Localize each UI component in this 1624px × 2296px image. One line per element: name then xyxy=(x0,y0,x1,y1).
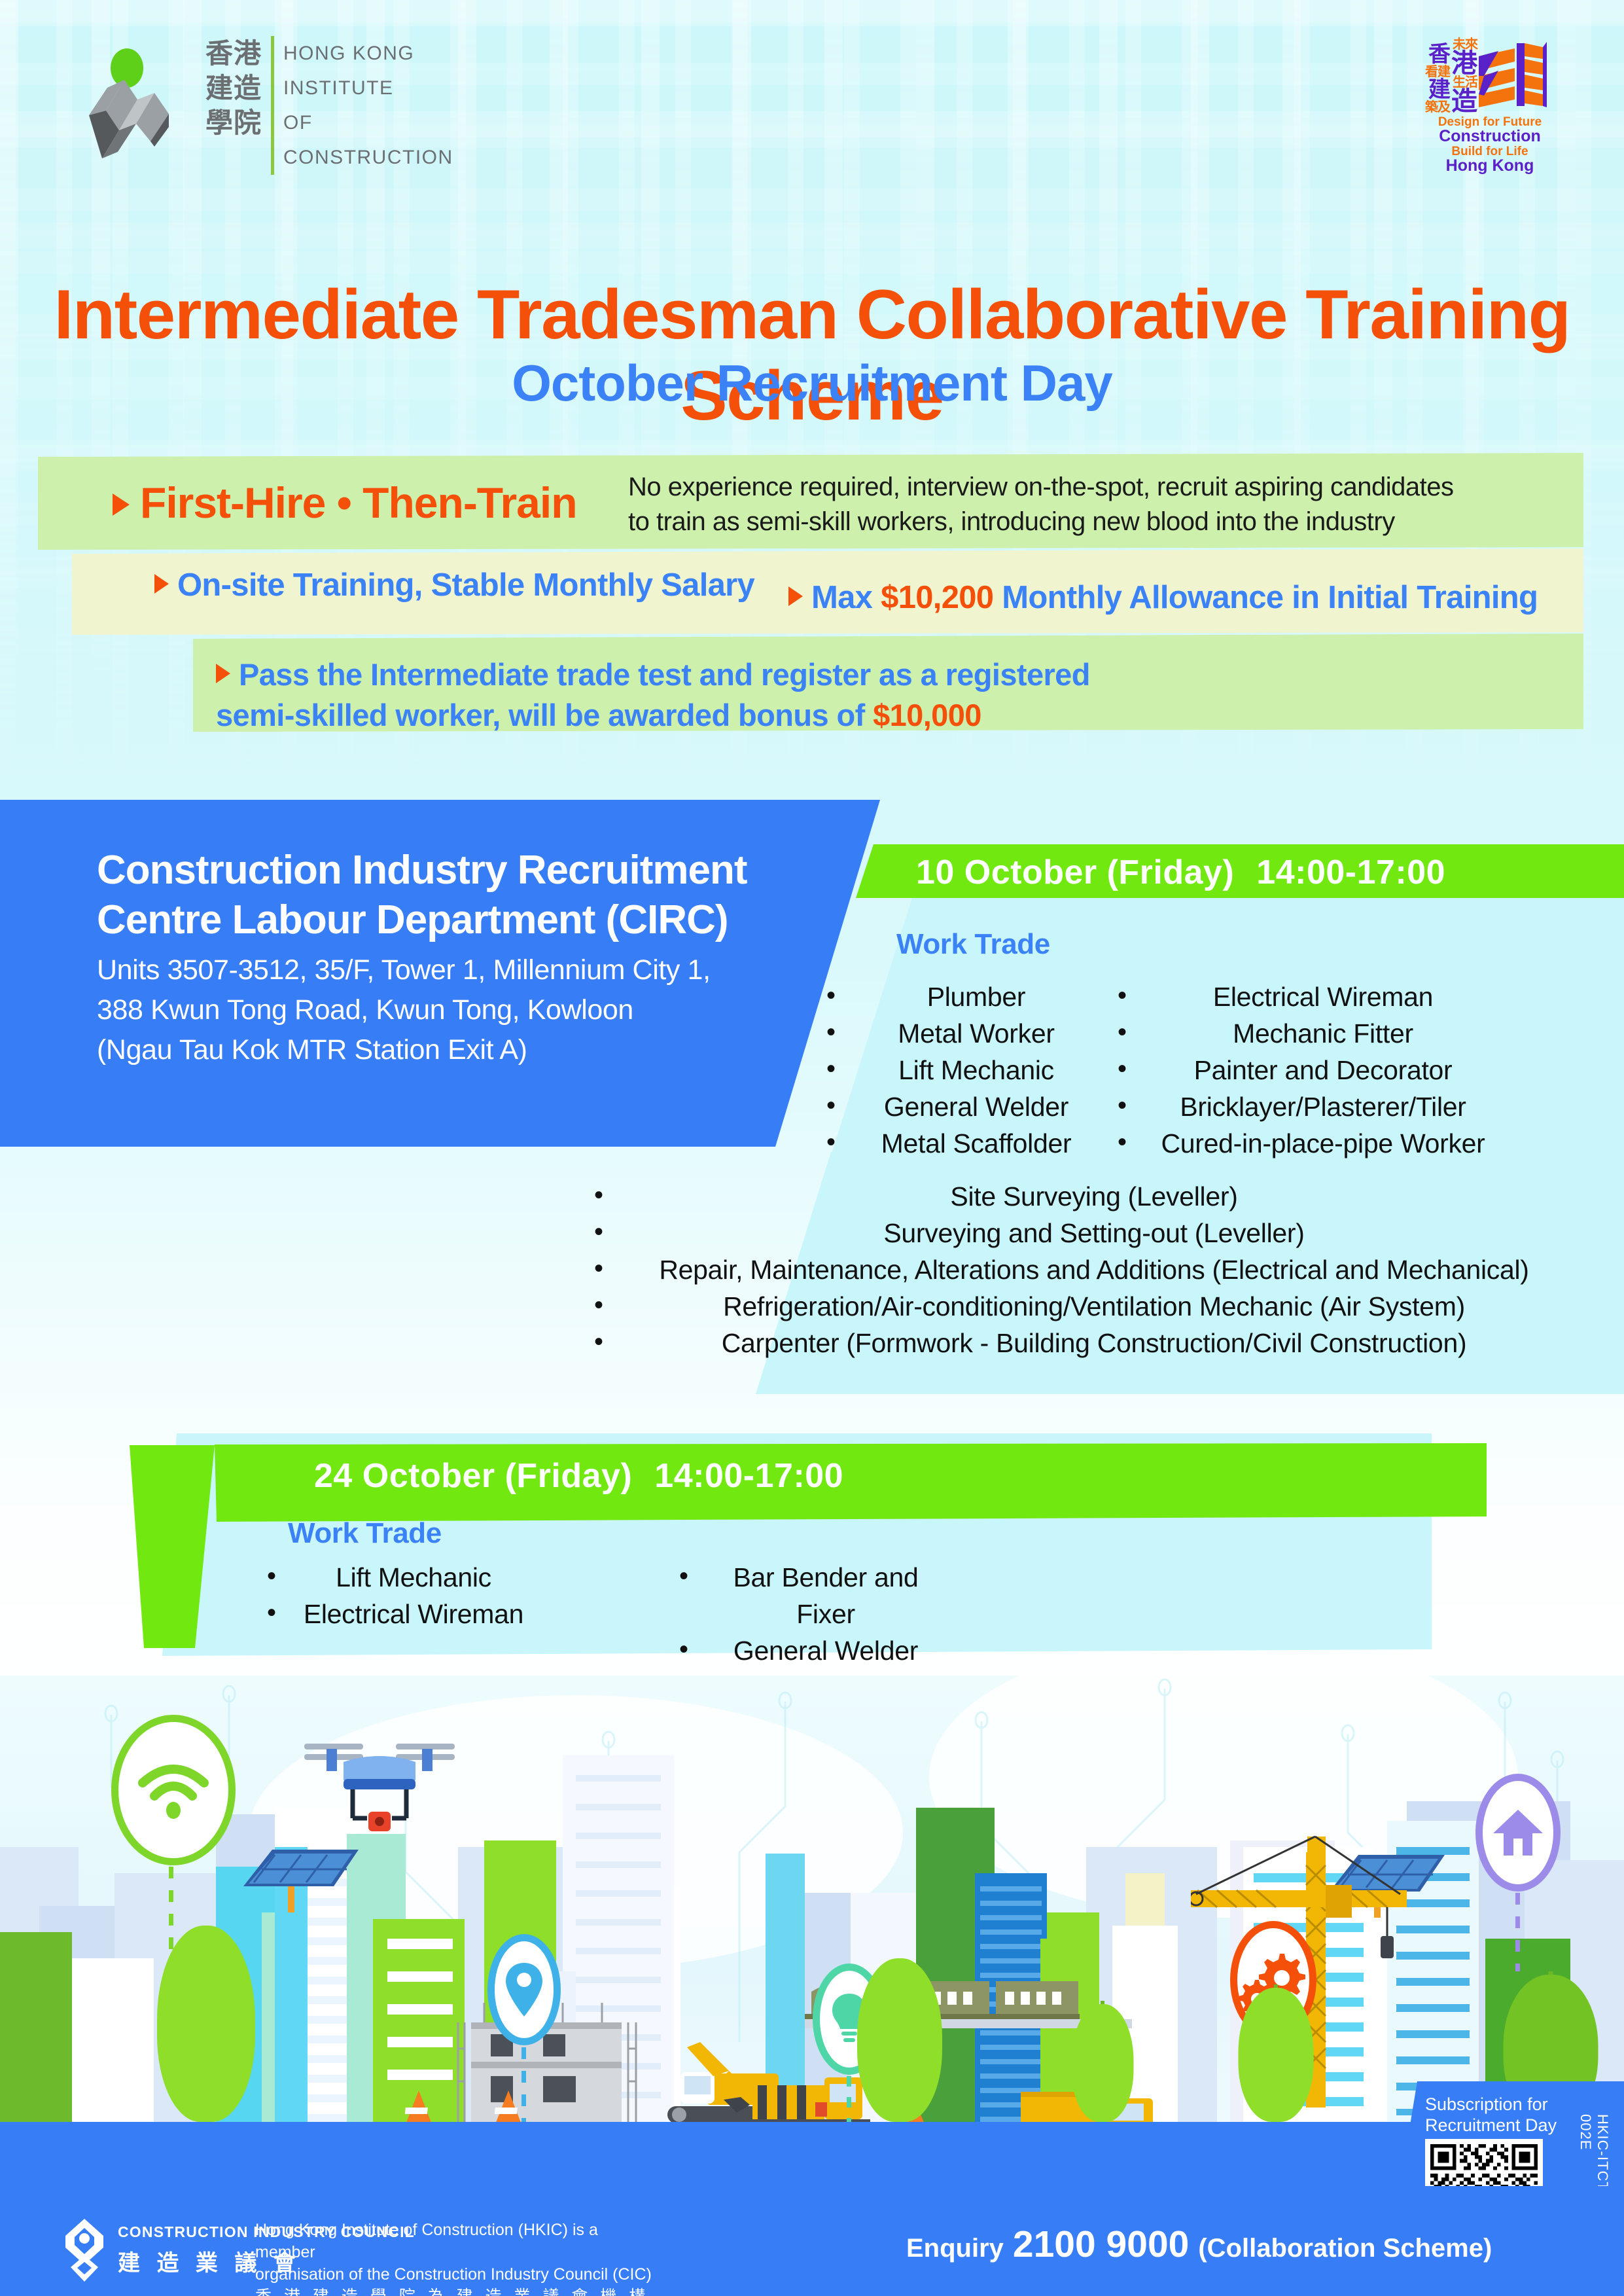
bonus-line-2-prefix: semi-skilled worker, will be awarded bon… xyxy=(216,698,873,732)
hkic-divider xyxy=(271,36,274,175)
list-item: Lift Mechanic xyxy=(821,1052,1103,1088)
list-item: General Welder xyxy=(821,1088,1103,1125)
list-item: Metal Scaffolder xyxy=(821,1125,1103,1162)
list-item: Electrical Wireman xyxy=(262,1596,537,1632)
home-badge xyxy=(1475,1774,1561,1892)
member-note-line-3: 香 港 建 造 學 院 為 建 造 業 議 會 機 構 成 員 xyxy=(255,2286,661,2296)
list-item: Electrical Wireman xyxy=(1112,978,1505,1015)
venue-name-line-2: Centre Labour Department (CIRC) xyxy=(97,895,803,945)
allowance-prefix: Max xyxy=(811,580,881,615)
enquiry-number[interactable]: 2100 9000 xyxy=(1013,2223,1189,2265)
tree xyxy=(150,1906,262,2122)
hkic-cn-line-2: 建造 xyxy=(205,71,262,105)
dff-cn-1: 香 xyxy=(1425,43,1450,65)
member-note-line-2: organisation of the Construction Industr… xyxy=(255,2263,661,2286)
building xyxy=(0,1932,72,2122)
dff-line-4: Hong Kong xyxy=(1408,158,1572,175)
location-badge xyxy=(487,1934,561,2045)
hkic-logo-text: 香港 建造 學院 HONG KONG INSTITUTE OF CONSTRUC… xyxy=(205,36,453,175)
design-for-future-logo: 香 看建 建 築及 未來 港 生活 造 xyxy=(1408,38,1572,175)
list-item: Bar Bender and Fixer xyxy=(674,1559,949,1632)
subscription-title: Subscription for Recruitment Day xyxy=(1425,2094,1576,2136)
dff-cn-mid: 看建 xyxy=(1425,65,1450,79)
drone-icon xyxy=(298,1734,468,1865)
list-item: Painter and Decorator xyxy=(1112,1052,1505,1088)
session-1-trades-full: Site Surveying (Leveller) Surveying and … xyxy=(589,1178,1570,1361)
arrow-right-icon xyxy=(788,586,803,606)
list-item: Metal Worker xyxy=(821,1015,1103,1052)
session-2-date-label: 24 October (Friday)14:00-17:00 xyxy=(314,1456,843,1496)
building xyxy=(62,1958,154,2122)
allowance-item: Max $10,200 Monthly Allowance in Initial… xyxy=(788,579,1538,616)
bonus-item: Pass the Intermediate trade test and reg… xyxy=(216,655,1328,736)
arrow-right-icon xyxy=(113,493,130,516)
bonus-line-1: Pass the Intermediate trade test and reg… xyxy=(239,657,1090,692)
list-item: Bricklayer/Plasterer/Tiler xyxy=(1112,1088,1505,1125)
hkic-english-name: HONG KONG INSTITUTE OF CONSTRUCTION xyxy=(283,36,453,175)
session-1-date-text: 10 October (Friday) xyxy=(916,853,1234,891)
hkic-logo: 香港 建造 學院 HONG KONG INSTITUTE OF CONSTRUC… xyxy=(77,36,453,175)
list-item: Plumber xyxy=(821,978,1103,1015)
list-item: Lift Mechanic xyxy=(262,1559,537,1596)
session-1-work-trade-label: Work Trade xyxy=(896,928,1050,961)
allowance-amount: $10,200 xyxy=(881,580,993,615)
first-hire-headline: First-Hire • Then-Train xyxy=(113,478,577,528)
wifi-badge xyxy=(111,1715,236,1865)
first-hire-desc-line-2: to train as semi-skill workers, introduc… xyxy=(628,505,1492,539)
session-2-trades-right: Bar Bender and Fixer General Welder xyxy=(674,1559,949,1669)
tree xyxy=(1067,1991,1139,2122)
first-hire-headline-text: First-Hire • Then-Train xyxy=(140,478,577,527)
session-2-time-text: 14:00-17:00 xyxy=(654,1457,843,1495)
venue-address-line-1: Units 3507-3512, 35/F, Tower 1, Millenni… xyxy=(97,950,810,990)
dff-chinese-small: 香 看建 建 築及 xyxy=(1425,43,1450,114)
enquiry-info: Enquiry2100 9000(Collaboration Scheme) xyxy=(906,2223,1492,2266)
arrow-right-icon xyxy=(154,574,169,594)
hkic-en-line-1: HONG KONG xyxy=(283,36,453,71)
hkic-en-line-2: INSTITUTE xyxy=(283,71,453,105)
enquiry-label: Enquiry xyxy=(906,2234,1004,2263)
wifi-icon xyxy=(137,1761,209,1820)
location-pin-icon xyxy=(503,1960,545,2019)
hkic-logo-mark xyxy=(77,42,188,170)
allowance-suffix: Monthly Allowance in Initial Training xyxy=(993,580,1538,615)
venue-name-line-1: Construction Industry Recruitment xyxy=(97,846,803,895)
session-1-trades-left: Plumber Metal Worker Lift Mechanic Gener… xyxy=(821,978,1103,1162)
hkic-cn-line-3: 學院 xyxy=(205,105,262,140)
venue-address: Units 3507-3512, 35/F, Tower 1, Millenni… xyxy=(97,950,810,1070)
tree xyxy=(1233,1971,1318,2122)
list-item: General Welder xyxy=(674,1632,949,1669)
list-item: Repair, Maintenance, Alterations and Add… xyxy=(589,1251,1570,1288)
list-item: Surveying and Setting-out (Leveller) xyxy=(589,1215,1570,1251)
dff-cn-2: 港 xyxy=(1451,51,1477,76)
list-item: Refrigeration/Air-conditioning/Ventilati… xyxy=(589,1288,1570,1325)
hkic-chinese-name: 香港 建造 學院 xyxy=(205,36,271,175)
venue-address-line-2: 388 Kwun Tong Road, Kwun Tong, Kowloon xyxy=(97,990,810,1030)
first-hire-description: No experience required, interview on-the… xyxy=(628,470,1492,539)
session-2-work-trade-label: Work Trade xyxy=(288,1517,442,1550)
session-2-date-text: 24 October (Friday) xyxy=(314,1457,632,1495)
onsite-training-item: On-site Training, Stable Monthly Salary xyxy=(154,567,754,603)
session-2-trades-left: Lift Mechanic Electrical Wireman xyxy=(262,1559,537,1632)
cic-logo-mark xyxy=(65,2219,103,2282)
poster-subtitle: October Recruitment Day xyxy=(0,353,1624,413)
dff-line-2: Construction xyxy=(1408,128,1572,145)
subscription-title-line-1: Subscription for xyxy=(1425,2094,1576,2115)
bonus-amount: $10,000 xyxy=(873,698,981,732)
venue-address-line-3: (Ngau Tau Kok MTR Station Exit A) xyxy=(97,1030,810,1070)
dff-cn-4: 造 xyxy=(1451,89,1477,114)
tree xyxy=(851,1939,949,2122)
dff-cn-3: 建 xyxy=(1425,79,1450,101)
list-item: Cured-in-place-pipe Worker xyxy=(1112,1125,1505,1162)
list-item: Mechanic Fitter xyxy=(1112,1015,1505,1052)
member-note-line-1: Hong Kong Institute of Construction (HKI… xyxy=(255,2219,661,2263)
enquiry-suffix: (Collaboration Scheme) xyxy=(1198,2234,1492,2263)
onsite-training-text: On-site Training, Stable Monthly Salary xyxy=(177,567,754,603)
member-organisation-note: Hong Kong Institute of Construction (HKI… xyxy=(255,2219,661,2296)
session-1-trades-right: Electrical Wireman Mechanic Fitter Paint… xyxy=(1112,978,1505,1162)
list-item: Site Surveying (Leveller) xyxy=(589,1178,1570,1215)
hkic-en-line-4: CONSTRUCTION xyxy=(283,140,453,175)
subscription-title-line-2: Recruitment Day xyxy=(1425,2115,1576,2136)
dff-cn-bottom2: 築及 xyxy=(1425,101,1450,114)
session-1-time-text: 14:00-17:00 xyxy=(1256,853,1445,891)
dff-tagline: Design for Future Construction Build for… xyxy=(1408,116,1572,175)
list-item: Carpenter (Formwork - Building Construct… xyxy=(589,1325,1570,1361)
poster-root: 香港 建造 學院 HONG KONG INSTITUTE OF CONSTRUC… xyxy=(0,0,1624,2296)
arrow-right-icon xyxy=(216,664,230,683)
hkic-cn-line-1: 香港 xyxy=(205,36,262,71)
hkic-en-line-3: OF xyxy=(283,105,453,140)
first-hire-desc-line-1: No experience required, interview on-the… xyxy=(628,470,1492,505)
smart-city-illustration xyxy=(0,1676,1624,2199)
home-icon xyxy=(1492,1807,1544,1858)
session-1-date-label: 10 October (Friday)14:00-17:00 xyxy=(916,853,1445,892)
dff-building-icon xyxy=(1479,42,1555,114)
venue-name: Construction Industry Recruitment Centre… xyxy=(97,846,803,944)
